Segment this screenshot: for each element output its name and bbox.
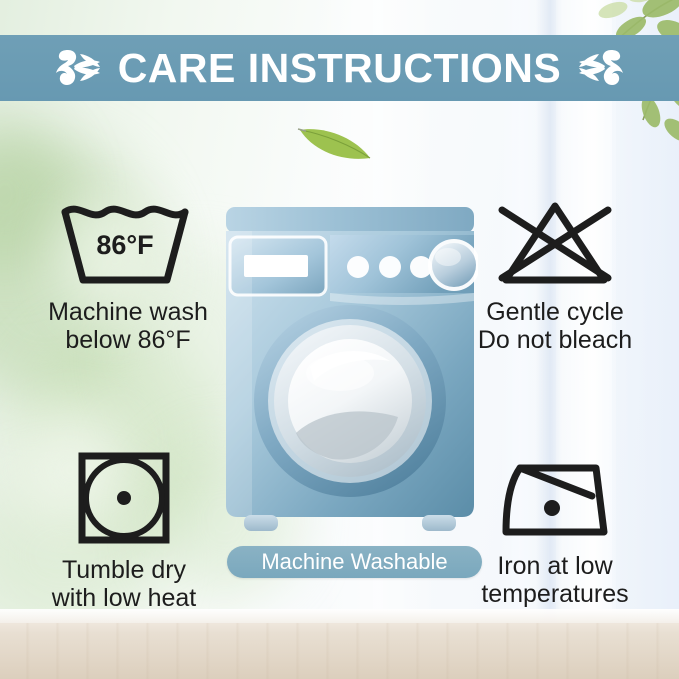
fleur-de-lis-ornament [50, 46, 104, 90]
instruction-machine-wash: 86°F Machine wash below 86°F [18, 196, 238, 355]
machine-top-lid [226, 207, 474, 233]
fleur-de-lis-ornament [575, 46, 629, 90]
low-heat-dot [117, 491, 131, 505]
page-title: CARE INSTRUCTIONS [118, 48, 562, 89]
iron-one-dot-icon [488, 446, 622, 546]
header-banner: CARE INSTRUCTIONS [0, 35, 679, 101]
indicator-light [379, 256, 401, 278]
wash-temperature-value: 86°F [96, 230, 153, 260]
badge-label: Machine Washable [261, 551, 447, 573]
wash-basin-icon: 86°F [53, 196, 203, 292]
washing-machine-illustration [222, 205, 478, 545]
machine-foot [244, 515, 278, 531]
low-temperature-dot [544, 500, 560, 516]
indicator-light [347, 256, 369, 278]
instruction-label: Tumble dry with low heat [52, 556, 197, 613]
machine-foot [422, 515, 456, 531]
triangle-crossed-out-icon [480, 196, 630, 292]
tumble-dry-low-heat-icon [72, 446, 176, 550]
detergent-drawer-slot [244, 255, 308, 277]
care-instructions-infographic: CARE INSTRUCTIONS 86°F Machine wash belo… [0, 0, 679, 679]
instruction-tumble-dry: Tumble dry with low heat [18, 446, 230, 613]
table-wood-grain [0, 623, 679, 679]
instruction-label: Machine wash below 86°F [48, 298, 208, 355]
instruction-label: Iron at low temperatures [481, 552, 628, 609]
machine-washable-badge: Machine Washable [227, 546, 482, 578]
instruction-label: Gentle cycle Do not bleach [478, 298, 632, 355]
